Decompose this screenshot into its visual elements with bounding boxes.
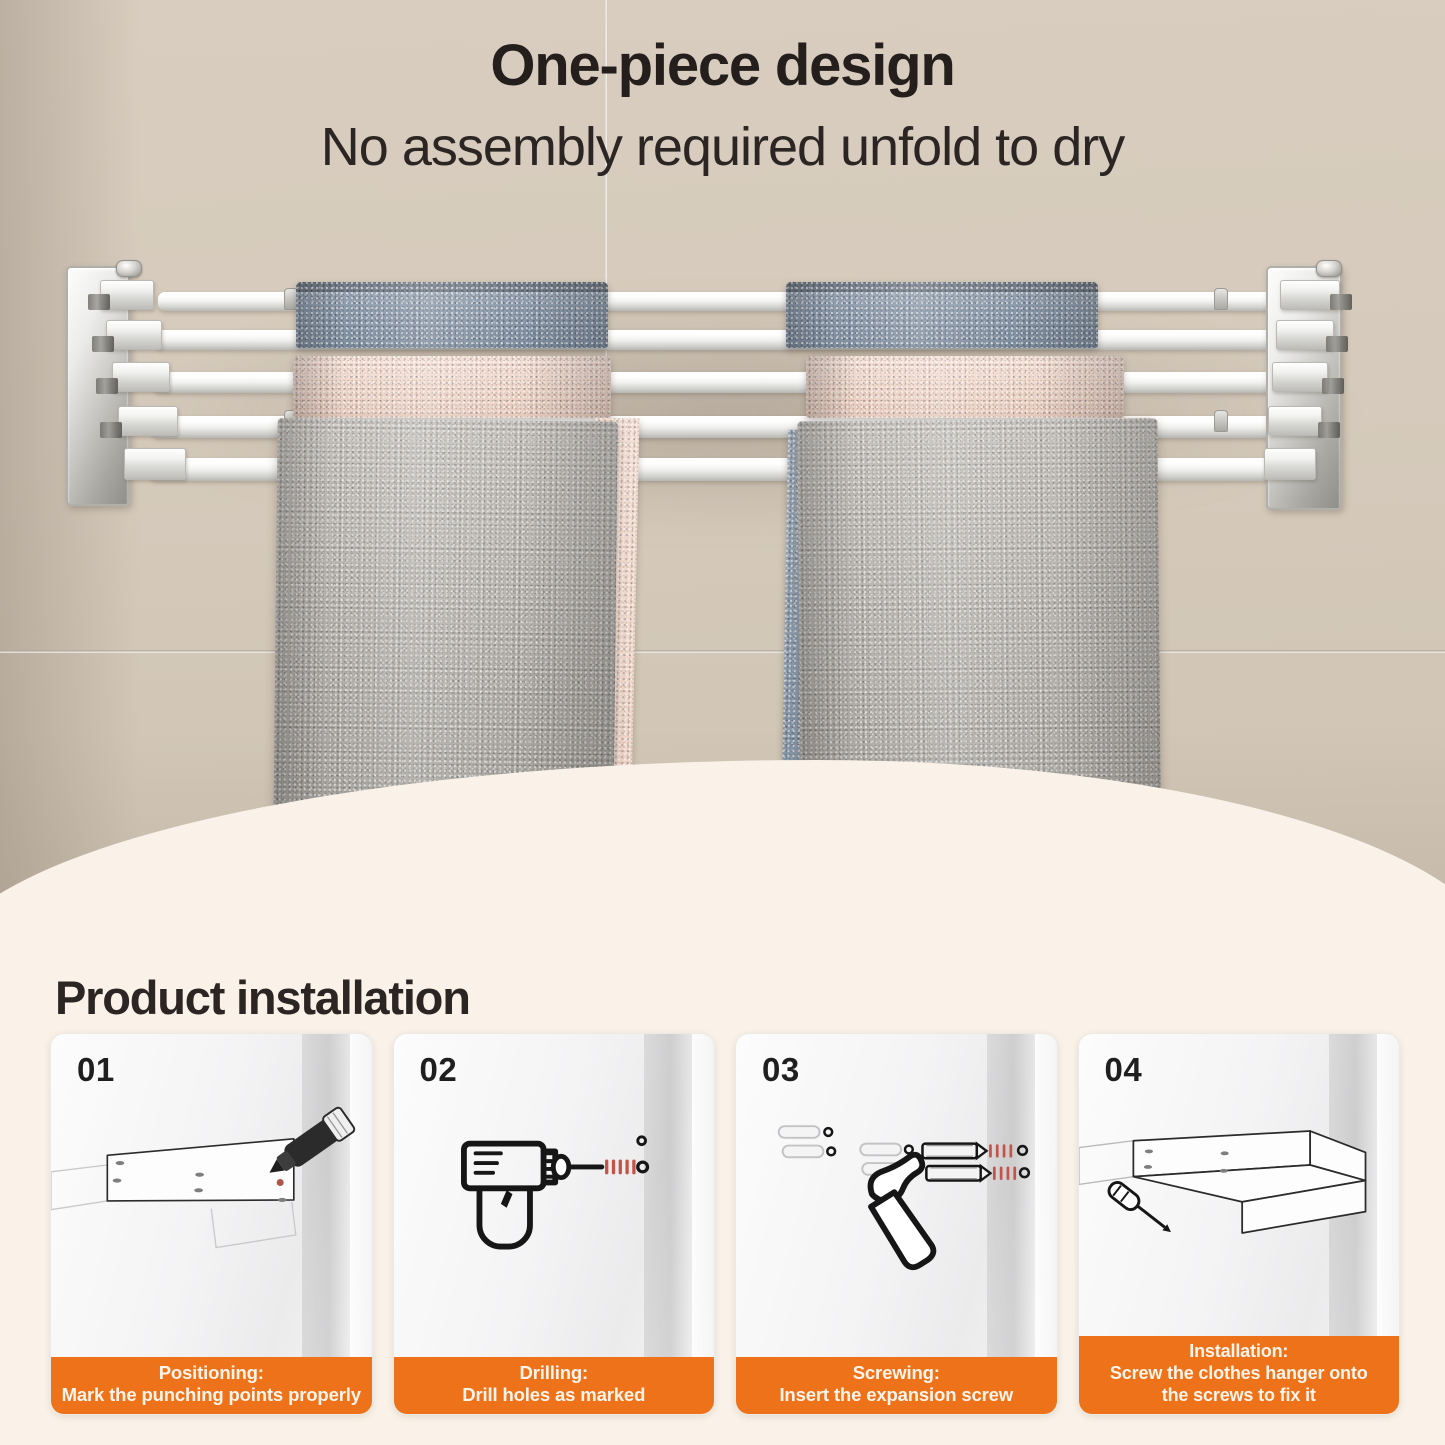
step-number-01: 01 <box>77 1051 115 1089</box>
page-subtitle: No assembly required unfold to dry <box>0 119 1445 176</box>
caption-line-1: Positioning: <box>159 1362 264 1385</box>
caption-line-1: Screwing: <box>853 1362 940 1385</box>
step-caption-03: Screwing: Insert the expansion screw <box>736 1357 1057 1414</box>
hero-product-photo: One-piece design No assembly required un… <box>0 0 1445 960</box>
caption-line-2: Drill holes as marked <box>462 1384 645 1407</box>
installation-step-card-02[interactable]: 02 <box>393 1033 716 1415</box>
wall-panel-seam-horizontal <box>0 650 1445 653</box>
towel-blue-left <box>296 282 608 348</box>
step-caption-04: Installation: Screw the clothes hanger o… <box>1079 1336 1400 1414</box>
rack-mount-screw-cap <box>116 260 142 277</box>
caption-line-2: Mark the punching points properly <box>62 1384 361 1407</box>
drying-rack-product <box>66 258 1386 528</box>
towel-pink-left <box>293 356 611 418</box>
rack-left-mount-bracket <box>66 258 186 516</box>
installation-step-card-04[interactable]: 04 <box>1078 1033 1401 1415</box>
section-title: Product installation <box>55 970 470 1025</box>
towel-blue-right <box>786 282 1098 348</box>
installation-section: Product installation 01 <box>0 930 1445 1445</box>
installation-step-card-03[interactable]: 03 <box>735 1033 1058 1415</box>
step-number-04: 04 <box>1105 1051 1143 1089</box>
hero-headline-block: One-piece design No assembly required un… <box>0 36 1445 176</box>
step-caption-02: Drilling: Drill holes as marked <box>394 1357 715 1414</box>
caption-line-1: Installation: <box>1189 1341 1288 1363</box>
caption-line-1: Drilling: <box>519 1362 588 1385</box>
caption-line-2: Insert the expansion screw <box>779 1384 1013 1407</box>
step-number-02: 02 <box>420 1051 458 1089</box>
step-number-03: 03 <box>762 1051 800 1089</box>
caption-line-2: Screw the clothes hanger onto <box>1110 1363 1368 1385</box>
rack-rod-tab <box>1214 288 1228 310</box>
towel-pink-right <box>806 356 1124 418</box>
rack-rod-tab <box>1214 410 1228 432</box>
rack-mount-screw-cap <box>1316 260 1342 277</box>
step-caption-01: Positioning: Mark the punching points pr… <box>51 1357 372 1414</box>
page-title: One-piece design <box>0 36 1445 97</box>
rack-right-mount-bracket <box>1266 258 1386 516</box>
caption-line-3: the screws to fix it <box>1162 1385 1316 1407</box>
installation-step-card-01[interactable]: 01 <box>50 1033 373 1415</box>
installation-steps-list: 01 <box>50 1033 1400 1415</box>
